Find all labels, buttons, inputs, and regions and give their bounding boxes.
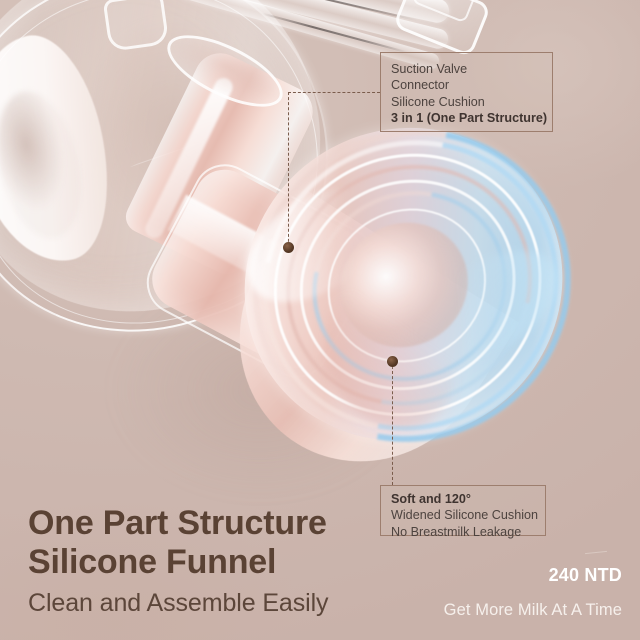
- page-title: One Part Structure Silicone Funnel: [28, 504, 327, 582]
- price-label: 240 NTD: [549, 565, 622, 586]
- promo-banner: Suction Valve Connector Silicone Cushion…: [0, 0, 640, 640]
- tagline: Get More Milk At A Time: [444, 601, 622, 620]
- leader-line-bottom-vertical: [392, 366, 393, 485]
- callout-top-line-4: 3 in 1 (One Part Structure): [391, 110, 552, 126]
- marker-dot-cushion: [387, 356, 398, 367]
- callout-bottom-line-2: Widened Silicone Cushion: [391, 507, 545, 523]
- callout-box-suction-valve: Suction Valve Connector Silicone Cushion…: [380, 52, 553, 132]
- headline-line-2: Silicone Funnel: [28, 543, 327, 582]
- callout-bottom-line-1: Soft and 120°: [391, 491, 545, 507]
- marker-dot-connector: [283, 242, 294, 253]
- callout-top-line-1: Suction Valve: [391, 61, 552, 77]
- leader-line-top-horizontal: [288, 92, 380, 93]
- callout-top-line-3: Silicone Cushion: [391, 94, 552, 110]
- headline-line-1: One Part Structure: [28, 504, 327, 543]
- leader-line-top-vertical: [288, 92, 289, 247]
- callout-top-line-2: Connector: [391, 77, 552, 93]
- callout-bottom-line-3: No Breastmilk Leakage: [391, 524, 545, 540]
- subtitle: Clean and Assemble Easily: [28, 589, 328, 618]
- callout-box-soft-cushion: Soft and 120° Widened Silicone Cushion N…: [380, 485, 546, 536]
